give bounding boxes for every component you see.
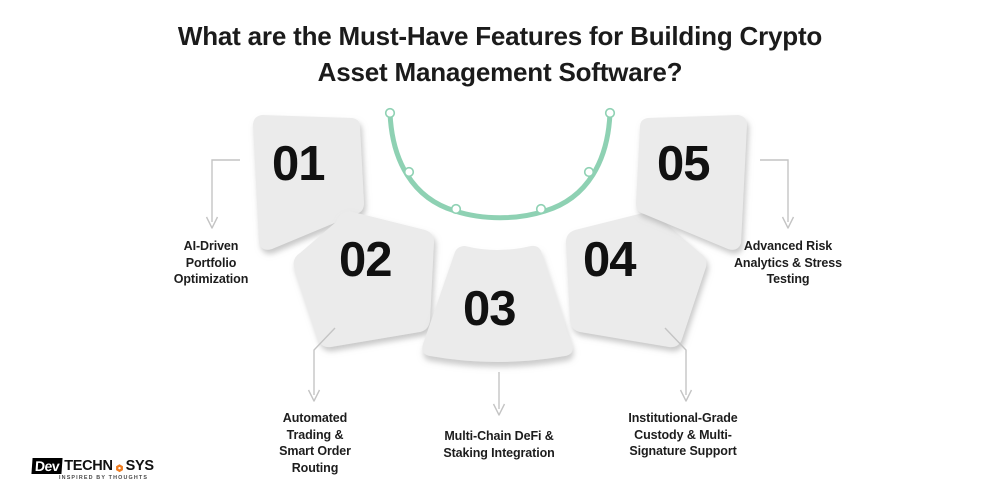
logo-techno-text: TECHN bbox=[64, 459, 112, 473]
caption-line: Portfolio bbox=[150, 255, 272, 272]
caption-line: Automated bbox=[252, 410, 378, 427]
infographic-canvas: What are the Must-Have Features for Buil… bbox=[0, 0, 1000, 500]
caption-line: Testing bbox=[712, 271, 864, 288]
logo-dev-badge: Dev bbox=[31, 458, 62, 474]
step-number-05: 05 bbox=[657, 140, 710, 189]
connector-03 bbox=[494, 372, 505, 415]
arc-node bbox=[405, 168, 414, 177]
step-number-03: 03 bbox=[463, 285, 516, 334]
caption-line: Optimization bbox=[150, 271, 272, 288]
arc-node bbox=[386, 109, 395, 118]
connector-01 bbox=[207, 160, 241, 228]
brand-logo[interactable]: Dev TECHN SYS INSPIRED BY THOUGHTS bbox=[32, 458, 154, 481]
arc-node bbox=[537, 205, 546, 214]
step-caption-03: Multi-Chain DeFi & Staking Integration bbox=[408, 428, 590, 461]
caption-line: AI-Driven bbox=[150, 238, 272, 255]
caption-line: Multi-Chain DeFi & bbox=[408, 428, 590, 445]
caption-line: Staking Integration bbox=[408, 445, 590, 462]
caption-line: Analytics & Stress bbox=[712, 255, 864, 272]
caption-line: Custody & Multi- bbox=[597, 427, 769, 444]
caption-line: Advanced Risk bbox=[712, 238, 864, 255]
decorative-arc bbox=[386, 109, 615, 218]
step-caption-01: AI-Driven Portfolio Optimization bbox=[150, 238, 272, 288]
step-number-04: 04 bbox=[583, 236, 636, 285]
step-caption-02: Automated Trading & Smart Order Routing bbox=[252, 410, 378, 476]
logo-tagline: INSPIRED BY THOUGHTS bbox=[59, 475, 148, 481]
gear-icon bbox=[114, 462, 125, 473]
step-number-02: 02 bbox=[339, 236, 392, 285]
caption-line: Signature Support bbox=[597, 443, 769, 460]
caption-line: Routing bbox=[252, 460, 378, 477]
connector-05 bbox=[760, 160, 794, 228]
step-caption-05: Advanced Risk Analytics & Stress Testing bbox=[712, 238, 864, 288]
step-caption-04: Institutional-Grade Custody & Multi- Sig… bbox=[597, 410, 769, 460]
logo-sys-text: SYS bbox=[126, 459, 154, 473]
caption-line: Trading & bbox=[252, 427, 378, 444]
caption-line: Smart Order bbox=[252, 443, 378, 460]
logo-wordmark: Dev TECHN SYS bbox=[32, 458, 154, 474]
arc-node bbox=[452, 205, 461, 214]
caption-line: Institutional-Grade bbox=[597, 410, 769, 427]
arc-node bbox=[606, 109, 615, 118]
step-number-01: 01 bbox=[272, 140, 325, 189]
arc-node bbox=[585, 168, 594, 177]
